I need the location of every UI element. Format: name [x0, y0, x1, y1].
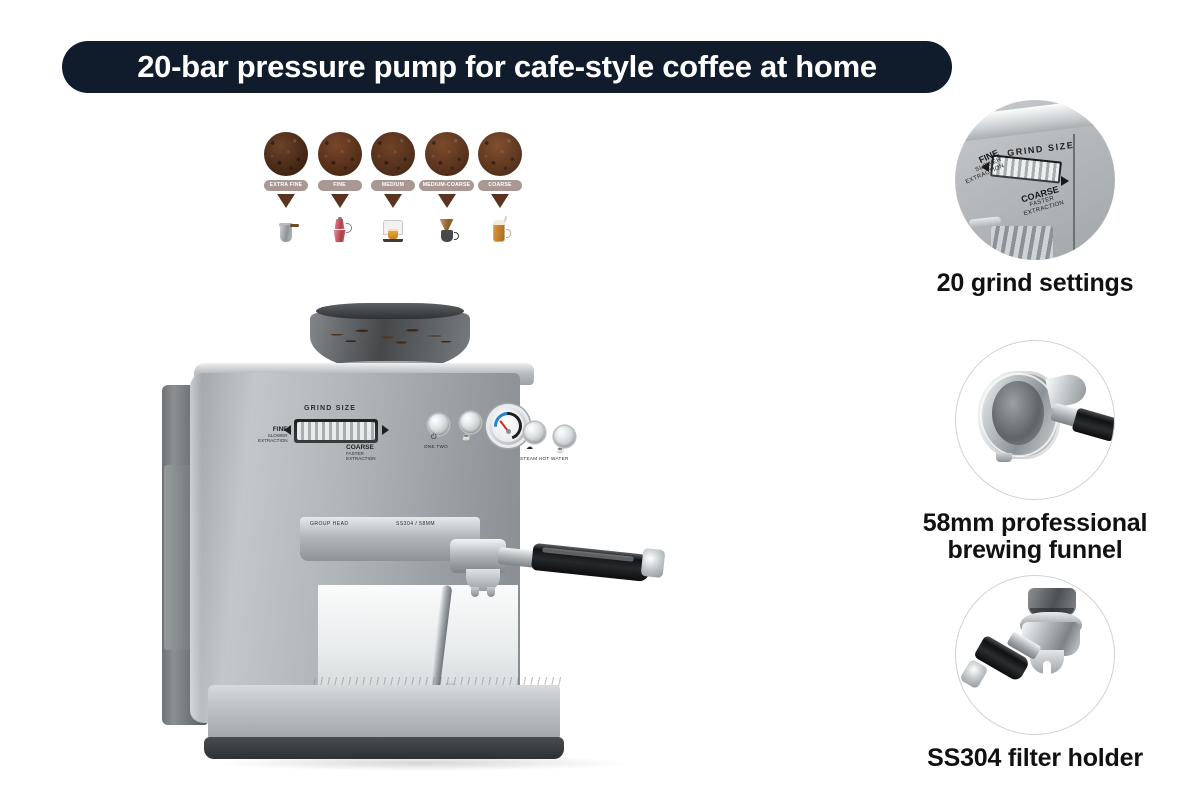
grind-label-medium-coarse: MEDIUM-COARSE — [419, 180, 475, 191]
grind-size-dial-image: GRIND SIZE FINE SLOWER EXTRACTION COARSE… — [955, 100, 1115, 260]
coffee-beans — [320, 323, 460, 349]
grind-label-medium: MEDIUM — [371, 180, 415, 191]
feature-filter-holder: SS304 filter holder — [875, 575, 1195, 772]
grind-size-title: GRIND SIZE — [304, 405, 356, 412]
machine-grind-slider[interactable]: GRIND SIZE FINE SLOWER EXTRACTION COARSE… — [268, 405, 408, 471]
grind-column-coarse: COARSE — [476, 132, 524, 254]
coarse-grounds-icon — [478, 132, 522, 176]
portafilter[interactable] — [450, 533, 690, 603]
panel-left-label: ONE TWO — [424, 444, 448, 449]
iced-coffee-glass-icon — [492, 212, 508, 242]
moka-pot-icon — [332, 212, 348, 242]
steam-button[interactable] — [524, 422, 545, 443]
group-head-left-text: GROUP HEAD — [310, 521, 349, 527]
medium-grounds-icon — [371, 132, 415, 176]
grind-label-extra-fine: EXTRA FINE — [264, 180, 308, 191]
filter-holder-image — [955, 575, 1115, 735]
medium-coarse-grounds-icon — [425, 132, 469, 176]
pour-over-dripper-icon — [438, 212, 456, 242]
espresso-machine-photo: GRIND SIZE FINE SLOWER EXTRACTION COARSE… — [150, 285, 730, 785]
hot-water-button[interactable] — [554, 426, 575, 447]
steam-icon: ☁ — [526, 443, 533, 451]
fine-extraction-label: FINE SLOWER EXTRACTION — [258, 427, 288, 443]
coarse-extraction-label: COARSE FASTER EXTRACTION — [346, 445, 376, 461]
headline-banner: 20-bar pressure pump for cafe-style coff… — [62, 41, 952, 93]
grind-column-fine: FINE — [316, 132, 364, 254]
group-head-right-text: SS304 / 58MM — [396, 521, 435, 527]
hopper-lid — [316, 303, 464, 319]
grind-column-medium: MEDIUM — [369, 132, 417, 254]
headline-text: 20-bar pressure pump for cafe-style coff… — [137, 49, 877, 85]
down-arrow-icon — [277, 194, 295, 208]
feature-caption-grind-settings: 20 grind settings — [875, 270, 1195, 297]
fine-grounds-icon — [318, 132, 362, 176]
one-cup-button[interactable] — [460, 412, 481, 433]
grind-label-fine: FINE — [318, 180, 362, 191]
down-arrow-icon — [491, 194, 509, 208]
brewing-funnel-image — [955, 340, 1115, 500]
extra-fine-grounds-icon — [264, 132, 308, 176]
feature-brewing-funnel: 58mm professional brewing funnel — [875, 340, 1195, 564]
grind-column-medium-coarse: MEDIUM-COARSE — [423, 132, 471, 254]
grind-slider-track[interactable] — [294, 419, 378, 443]
feature-caption-brewing-funnel: 58mm professional brewing funnel — [875, 510, 1195, 564]
cezve-ibrik-icon — [278, 212, 294, 242]
handle-endcap — [641, 548, 666, 578]
panel-right-label: STEAM HOT WATER — [520, 456, 569, 461]
control-panel: ⏻ ☕ ☁ ☕ ONE TWO STEAM HOT WATER — [420, 400, 580, 505]
espresso-machine-icon — [383, 212, 403, 242]
machine-base — [204, 737, 564, 759]
drip-tray[interactable] — [208, 685, 560, 743]
down-arrow-icon — [438, 194, 456, 208]
power-icon: ⏻ — [431, 434, 437, 442]
grind-size-chart: EXTRA FINE FINE MEDIUM MEDIUM-COARSE — [262, 132, 524, 254]
feature-caption-filter-holder: SS304 filter holder — [875, 745, 1195, 772]
fine-extraction-overlay: FINE SLOWER EXTRACTION — [958, 148, 1005, 185]
product-feature-page: 20-bar pressure pump for cafe-style coff… — [0, 0, 1200, 800]
down-arrow-icon — [331, 194, 349, 208]
grind-label-coarse: COARSE — [478, 180, 522, 191]
grind-column-extra-fine: EXTRA FINE — [262, 132, 310, 254]
grind-size-overlay-title: GRIND SIZE — [1007, 140, 1075, 158]
portafilter-spouts — [466, 569, 500, 591]
feature-grind-settings: GRIND SIZE FINE SLOWER EXTRACTION COARSE… — [875, 100, 1195, 297]
power-button[interactable] — [428, 414, 449, 435]
down-arrow-icon — [384, 194, 402, 208]
pressure-gauge — [486, 404, 530, 448]
water-icon: ☕ — [556, 446, 565, 454]
machine-body-highlight — [190, 373, 202, 723]
right-arrow-icon — [1061, 176, 1069, 186]
coarse-extraction-overlay: COARSE FASTER EXTRACTION — [1019, 185, 1065, 218]
cup-icon: ☕ — [462, 433, 471, 441]
right-arrow-icon — [382, 425, 389, 435]
